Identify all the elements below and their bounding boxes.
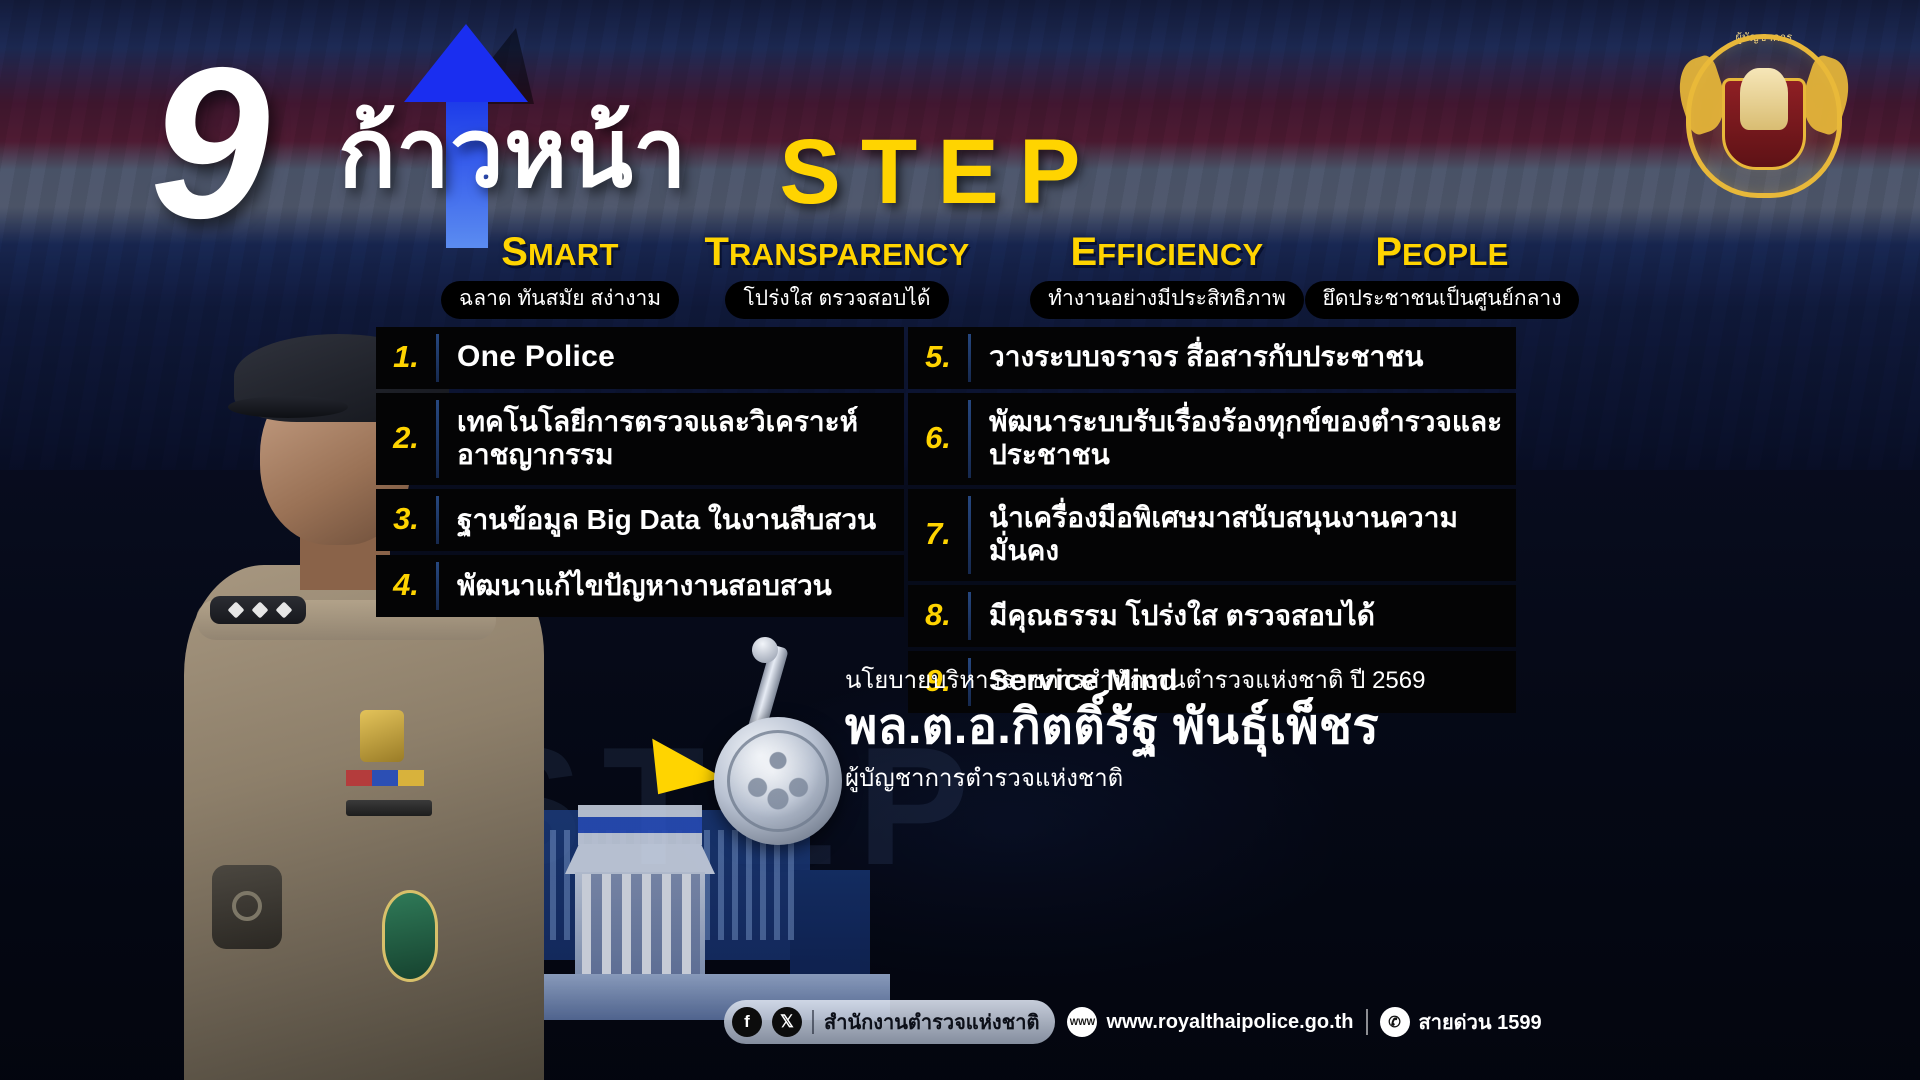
commissioner-role: ผู้บัญชาการตำรวจแห่งชาติ: [845, 758, 1525, 797]
list-item[interactable]: 7. นำเครื่องมือพิเศษมาสนับสนุนงานความมั่…: [908, 489, 1516, 581]
globe-www-icon: WWW: [1067, 1007, 1097, 1037]
list-item-text: มีคุณธรรม โปร่งใส ตรวจสอบได้: [971, 585, 1516, 647]
list-item-number: 4.: [376, 555, 436, 617]
list-item-text: ฐานข้อมูล Big Data ในงานสืบสวน: [439, 489, 904, 551]
hotline-item[interactable]: ✆ สายด่วน 1599: [1380, 1006, 1542, 1038]
list-item-number: 3.: [376, 489, 436, 551]
list-item-text: One Police: [439, 327, 904, 389]
social-group[interactable]: f 𝕏 สำนักงานตำรวจแห่งชาติ: [724, 1000, 1055, 1044]
list-item[interactable]: 8. มีคุณธรรม โปร่งใส ตรวจสอบได้: [908, 585, 1516, 647]
acronym-cap: T: [705, 230, 729, 274]
list-item[interactable]: 1. One Police: [376, 327, 904, 389]
social-handle-label: สำนักงานตำรวจแห่งชาติ: [824, 1006, 1039, 1038]
list-item-number: 7.: [908, 489, 968, 581]
policy-list-right: 5. วางระบบจราจร สื่อสารกับประชาชน 6. พัฒ…: [908, 327, 1516, 717]
acronym-rest: EOPLE: [1402, 237, 1509, 272]
policy-list-left: 1. One Police 2. เทคโนโลยีการตรวจและวิเค…: [376, 327, 904, 621]
acronym-pill-people: ยึดประชาชนเป็นศูนย์กลาง: [1305, 281, 1580, 319]
list-item-text: พัฒนาระบบรับเรื่องร้องทุกข์ของตำรวจและปร…: [971, 393, 1516, 485]
list-item-text: พัฒนาแก้ไขปัญหางานสอบสวน: [439, 555, 904, 617]
policy-line: นโยบายบริหารราชการสำนักงานตำรวจแห่งชาติ …: [845, 660, 1525, 699]
hero-headline: 9 ก้าวหน้า: [150, 18, 850, 238]
list-item-text: นำเครื่องมือพิเศษมาสนับสนุนงานความมั่นคง: [971, 489, 1516, 581]
list-item[interactable]: 2. เทคโนโลยีการตรวจและวิเคราะห์อาชญากรรม: [376, 393, 904, 485]
website-url[interactable]: www.royalthaipolice.go.th: [1106, 1011, 1353, 1034]
acronym-pill-transparency: โปร่งใส ตรวจสอบได้: [725, 281, 948, 319]
hotline-label: สายด่วน 1599: [1419, 1006, 1542, 1038]
signature-block: นโยบายบริหารราชการสำนักงานตำรวจแห่งชาติ …: [845, 660, 1525, 797]
acronym-people: PEOPLE ยึดประชาชนเป็นศูนย์กลาง: [1212, 230, 1672, 319]
list-item-text: วางระบบจราจร สื่อสารกับประชาชน: [971, 327, 1516, 389]
step-acronym-title: STEP: [760, 120, 1120, 225]
footer-separator: [812, 1010, 814, 1034]
big-number-nine: 9: [150, 44, 270, 242]
list-item[interactable]: 4. พัฒนาแก้ไขปัญหางานสอบสวน: [376, 555, 904, 617]
list-item-number: 6.: [908, 393, 968, 485]
acronym-cap: E: [1070, 230, 1097, 274]
footer-contact-bar: f 𝕏 สำนักงานตำรวจแห่งชาติ WWW www.royalt…: [724, 1000, 1542, 1044]
list-item-number: 1.: [376, 327, 436, 389]
acronym-row: SMART ฉลาด ทันสมัย สง่างาม TRANSPARENCY …: [376, 230, 1516, 320]
x-twitter-icon[interactable]: 𝕏: [772, 1007, 802, 1037]
commissioner-name: พล.ต.อ.กิตติ์รัฐ พันธุ์เพ็ชร: [845, 701, 1525, 754]
list-item[interactable]: 3. ฐานข้อมูล Big Data ในงานสืบสวน: [376, 489, 904, 551]
acronym-rest: RANSPARENCY: [729, 237, 970, 272]
facebook-icon[interactable]: f: [732, 1007, 762, 1037]
list-item-number: 2.: [376, 393, 436, 485]
acronym-rest: MART: [528, 237, 619, 272]
royal-thai-police-emblem-icon: ผู้บัญชาการ: [1666, 18, 1862, 214]
list-item-number: 5.: [908, 327, 968, 389]
list-item[interactable]: 5. วางระบบจราจร สื่อสารกับประชาชน: [908, 327, 1516, 389]
acronym-cap: P: [1375, 230, 1402, 274]
list-item[interactable]: 6. พัฒนาระบบรับเรื่องร้องทุกข์ของตำรวจแล…: [908, 393, 1516, 485]
acronym-cap: S: [501, 230, 528, 274]
list-item-number: 8.: [908, 585, 968, 647]
phone-icon: ✆: [1380, 1007, 1410, 1037]
infographic-poster: STEP ผู้บัญชาการ: [0, 0, 1920, 1080]
footer-divider: [1366, 1009, 1368, 1035]
thai-headline: ก้าวหน้า: [338, 106, 687, 202]
website-item[interactable]: WWW www.royalthaipolice.go.th: [1067, 1007, 1353, 1037]
list-item-text: เทคโนโลยีการตรวจและวิเคราะห์อาชญากรรม: [439, 393, 904, 485]
